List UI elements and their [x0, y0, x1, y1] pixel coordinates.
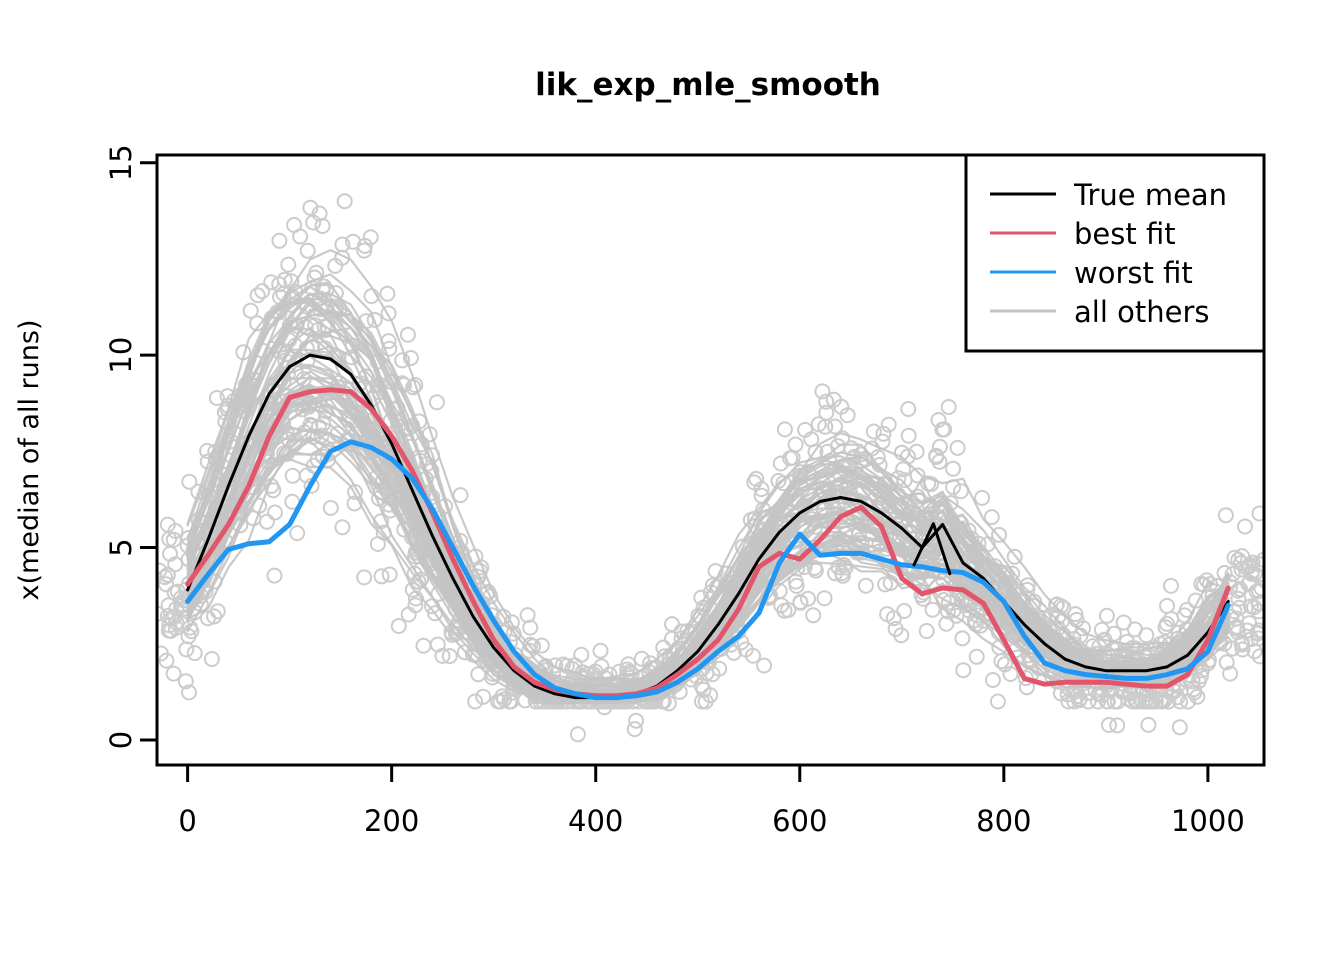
y-axis-label: x(median of all runs) [14, 320, 45, 601]
x-tick-label: 800 [976, 804, 1031, 838]
legend-label-worst-fit[interactable]: worst fit [1074, 256, 1193, 290]
chart-canvas: lik_exp_mle_smooth x(median of all runs)… [0, 0, 1344, 960]
x-tick-label: 0 [178, 804, 196, 838]
legend-label-all-others[interactable]: all others [1074, 295, 1209, 329]
y-tick-label: 5 [104, 538, 138, 556]
x-tick-label: 1000 [1171, 804, 1245, 838]
x-tick-label: 400 [568, 804, 623, 838]
legend-label-true-mean[interactable]: True mean [1073, 178, 1227, 212]
x-tick-label: 200 [364, 804, 419, 838]
y-tick-label: 0 [104, 731, 138, 749]
chart-figure: lik_exp_mle_smooth x(median of all runs)… [0, 0, 1344, 960]
chart-legend[interactable]: True meanbest fitworst fitall others [966, 155, 1264, 351]
y-tick-label: 15 [104, 144, 138, 181]
legend-label-best-fit[interactable]: best fit [1074, 217, 1176, 251]
chart-title: lik_exp_mle_smooth [535, 67, 881, 103]
y-tick-label: 10 [104, 337, 138, 374]
x-tick-label: 600 [772, 804, 827, 838]
